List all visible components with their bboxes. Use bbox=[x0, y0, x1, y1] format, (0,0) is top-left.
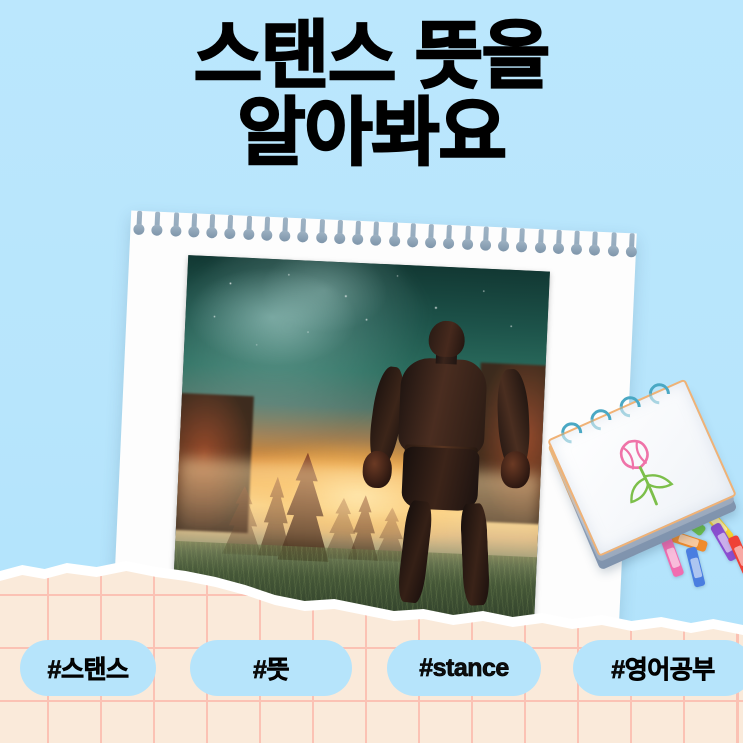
hashtag-tteut[interactable]: #뜻 bbox=[190, 640, 352, 696]
boxer-torso bbox=[398, 357, 487, 457]
hashtag-stance-ko[interactable]: #스탠스 bbox=[20, 640, 156, 696]
hashtag-english-study[interactable]: #영어공부 bbox=[573, 640, 743, 696]
poster-canvas: 스탠스 뜻을 알아봐요 bbox=[0, 0, 743, 743]
page-title: 스탠스 뜻을 알아봐요 bbox=[0, 18, 743, 172]
boxing-glove-left bbox=[362, 450, 393, 488]
boxer-head bbox=[428, 320, 465, 357]
hashtag-row: #스탠스 #뜻 #stance #영어공부 bbox=[0, 623, 743, 743]
hashtag-stance-en[interactable]: #stance bbox=[387, 640, 541, 696]
title-line-1: 스탠스 뜻을 bbox=[0, 18, 743, 95]
title-line-2: 알아봐요 bbox=[0, 95, 743, 172]
boxing-glove-right bbox=[500, 451, 531, 489]
